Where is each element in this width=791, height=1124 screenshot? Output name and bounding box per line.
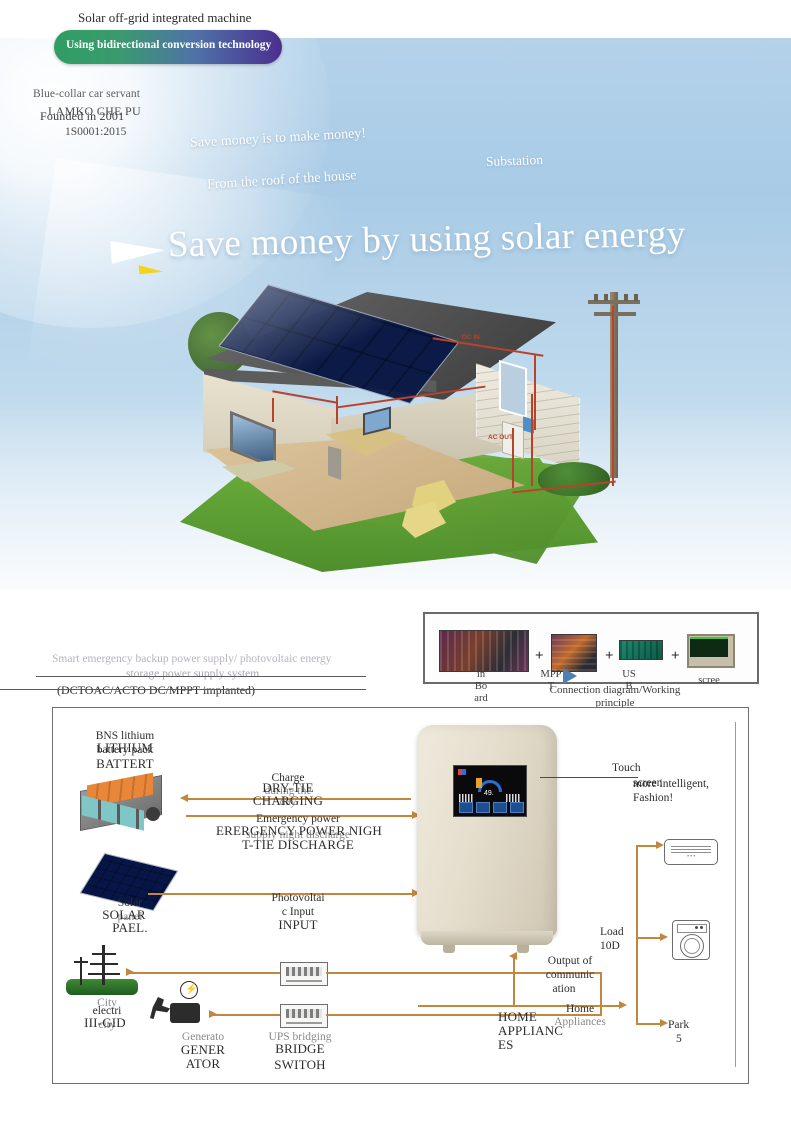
ac-unit-indicator: ••• <box>687 854 696 860</box>
ups-label-caps1: BRIDGE <box>235 1042 365 1056</box>
bush-icon <box>538 462 610 496</box>
mppt-board-chip <box>551 634 597 672</box>
hero-line-substation: Substation <box>486 152 544 170</box>
battery-fan <box>146 807 160 821</box>
poster-page: Blue-collar car servant LAMKO CHE PU Fou… <box>0 0 791 1124</box>
inverter-body <box>417 725 557 937</box>
discharge-label-caps2: T-TIE DISCHARGE <box>203 838 393 852</box>
plug-park <box>660 1019 668 1027</box>
tower-arm-4 <box>74 961 88 963</box>
wire-gable-down <box>531 394 533 486</box>
washer-drum-inner <box>684 938 700 954</box>
component-separator-1: + <box>535 648 544 665</box>
usb-board-chip <box>619 640 663 660</box>
main-board-label-mid: Bo <box>475 681 487 692</box>
display-logo-icon <box>458 769 466 775</box>
pole-insulator-4 <box>634 294 638 301</box>
battery-label-overlay: LITHIUM <box>60 741 190 755</box>
grid-label-caps: III-GID <box>50 1016 160 1030</box>
strip-rule-1 <box>0 689 366 690</box>
washing-machine-icon <box>672 920 710 960</box>
connection-caption-line1: Connection diagram/Working <box>550 684 681 696</box>
main-board-label-top: in <box>477 669 485 680</box>
park-label-line2: 5 <box>676 1032 736 1046</box>
label-ac-out: AC OUT <box>488 434 513 441</box>
inverter-base <box>421 931 553 945</box>
plug-washer <box>660 933 668 941</box>
comm-label-line3: ation <box>514 982 614 996</box>
tower-arm-3 <box>88 973 120 975</box>
wire-roof-down <box>534 354 536 430</box>
display-button-4[interactable] <box>510 802 524 813</box>
solar-label-caps2: PAEL. <box>70 921 190 935</box>
mid-subtitle-line1: Smart emergency backup power supply/ pho… <box>52 653 372 665</box>
mppt-label-top: MPP <box>540 669 561 680</box>
display-button-2[interactable] <box>476 802 490 813</box>
charge-label-caps2: CHARGING <box>223 794 353 808</box>
diagram-right-divider <box>735 722 736 1067</box>
component-mppt-board <box>551 634 597 672</box>
touch-screen-glass <box>690 637 728 657</box>
component-separator-3: + <box>671 648 680 665</box>
home-label-caps3: ES <box>498 1038 608 1052</box>
display-bars-left <box>459 794 473 802</box>
pole-insulator-2 <box>604 294 608 301</box>
play-triangle-icon <box>563 668 577 684</box>
distribution-box-top-rail <box>286 967 322 976</box>
battery-pack-icon <box>80 775 168 827</box>
tower-arm-2 <box>90 963 118 965</box>
washer-dot-2 <box>700 926 703 929</box>
house-window <box>499 360 527 418</box>
battery-label-caps: BATTERT <box>60 757 190 771</box>
tower-mast-main <box>102 945 105 985</box>
strip-rule-2 <box>36 676 366 677</box>
mid-section-title: Solar off-grid integrated machine <box>78 10 251 26</box>
ac-unit-vents <box>671 845 711 853</box>
comm-label-line1: Output of <box>520 954 620 968</box>
touch-label-line1: Touch <box>612 761 722 775</box>
main-board-label-bot: ard <box>474 693 487 704</box>
pv-label-caps: INPUT <box>238 918 358 932</box>
component-touch-screen <box>687 634 735 668</box>
inverter-display[interactable]: 49. <box>453 765 527 817</box>
component-separator-2: + <box>605 648 614 665</box>
pole-insulator-1 <box>594 294 598 301</box>
touch-label-line4: Fashion! <box>633 791 743 805</box>
arrow-white-icon <box>110 237 165 264</box>
plug-grid <box>126 968 134 976</box>
distribution-box-top-bar <box>286 980 322 982</box>
home-label-caps2: APPLIANC <box>498 1024 628 1038</box>
air-conditioner-icon: ••• <box>664 839 718 865</box>
mid-subtitle-line3: (DCTOAC/ACTO DC/MPPT implanted) <box>57 683 255 698</box>
bidirectional-tech-banner: Using bidirectional conversion technolog… <box>54 30 282 64</box>
generator-operator <box>150 997 170 1019</box>
load-label-line1: Load <box>600 925 650 939</box>
touch-screen-chip <box>687 634 735 668</box>
wire-grid-to-box <box>130 972 280 974</box>
generator-body <box>170 1003 200 1023</box>
touch-callout-leader <box>540 777 638 778</box>
wire-tv-drop <box>272 398 274 422</box>
distribution-box-bottom <box>280 1004 328 1028</box>
display-value: 49. <box>484 790 494 797</box>
display-bars-right <box>506 794 520 802</box>
brand-founded: Founded in 2001 <box>40 109 124 124</box>
component-label-main-board: in Bo ard <box>441 669 521 705</box>
display-button-1[interactable] <box>459 802 473 813</box>
pole-crossarm-bottom <box>594 312 636 316</box>
label-dc-in: DC IN <box>462 334 480 341</box>
mid-subtitle-line2: storage power supply system <box>126 668 259 680</box>
distribution-box-bottom-rail <box>286 1009 322 1018</box>
plug-comm-top <box>509 952 517 960</box>
distribution-box-top <box>280 962 328 986</box>
component-main-board <box>439 630 529 672</box>
inverter-unit: 49. <box>417 725 557 955</box>
usb-label-top: US <box>622 669 635 680</box>
lightning-bolt-icon: ⚡ <box>185 985 197 994</box>
washer-dot-1 <box>695 926 698 929</box>
inverter-foot-left <box>443 945 455 953</box>
distribution-box-bottom-bar <box>286 1022 322 1024</box>
home-label-caps1: HOME <box>498 1010 608 1024</box>
display-button-3[interactable] <box>493 802 507 813</box>
plug-charge-left <box>180 794 188 802</box>
component-usb-board <box>619 640 663 660</box>
pole-insulator-3 <box>624 294 628 301</box>
plug-ac-unit <box>656 841 664 849</box>
brand-certification: 1S0001:2015 <box>65 126 126 138</box>
generator-icon: ⚡ <box>148 985 214 1031</box>
tower-arm-1 <box>92 953 116 955</box>
comm-label-line2: communic <box>520 968 620 982</box>
park-label-line1: Park <box>668 1018 728 1032</box>
load-label-line2: 10D <box>600 939 650 953</box>
pv-label-line1: Photovoltai <box>238 891 358 905</box>
house-illustration: DC IN AC OUT <box>176 276 646 576</box>
discharge-label-caps1: ERERGENCY POWER NIGH <box>196 824 402 838</box>
display-gauge-marker <box>476 778 482 788</box>
wire-indoor-tv-v <box>336 396 338 424</box>
plug-generator <box>209 1010 217 1018</box>
bidirectional-tech-banner-label: Using bidirectional conversion technolog… <box>66 39 271 51</box>
inverter-foot-right <box>517 945 529 953</box>
wire-pole-vertical <box>612 306 614 486</box>
ups-label-caps2: SWITOH <box>235 1058 365 1072</box>
brand-tagline: Blue-collar car servant <box>33 88 140 100</box>
wire-gen-to-box <box>213 1014 280 1016</box>
main-board-chip <box>439 630 529 672</box>
